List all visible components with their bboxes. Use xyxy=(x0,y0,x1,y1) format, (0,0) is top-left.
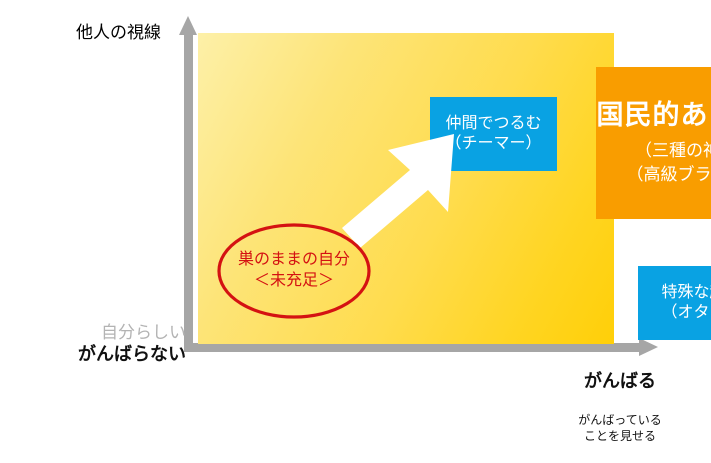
x-axis-label-high: がんばる がんばっている ことを見せる xyxy=(540,352,700,463)
plot-area: 国民的あこがれ （三種の神器） （高級ブランド） 仲間でつるむ （チーマー） 特… xyxy=(198,33,614,344)
quadrant-national-aspiration[interactable]: 国民的あこがれ （三種の神器） （高級ブランド） xyxy=(596,67,711,219)
x-axis-label-low-strong: がんばらない xyxy=(62,343,186,366)
y-axis-line xyxy=(184,34,193,348)
x-axis-label-low-faint: 自分らしい xyxy=(62,322,186,343)
x-axis-label-high-note: がんばっている ことを見せる xyxy=(540,413,700,444)
quadrant-otaku[interactable]: 特殊な趣味 （オタク） xyxy=(638,266,711,340)
y-axis-label: 他人の視線 xyxy=(76,18,161,43)
annotation-unmet-self[interactable]: 巣のままの自分 ＜未充足＞ xyxy=(216,222,372,320)
x-axis-line xyxy=(184,343,646,352)
quadrant-otaku-label: 特殊な趣味 （オタク） xyxy=(661,283,711,322)
x-axis-label-high-strong: がんばる xyxy=(540,370,700,393)
quadrant-national-aspiration-headline: 国民的あこがれ xyxy=(597,99,711,132)
diagram-canvas: 国民的あこがれ （三種の神器） （高級ブランド） 仲間でつるむ （チーマー） 特… xyxy=(0,0,711,425)
quadrant-national-aspiration-sub: （三種の神器） （高級ブランド） xyxy=(627,139,711,187)
annotation-unmet-self-label: 巣のままの自分 ＜未充足＞ xyxy=(216,222,372,320)
x-axis-label-low: 自分らしい がんばらない xyxy=(62,322,186,366)
y-axis-arrow-icon xyxy=(179,16,197,35)
